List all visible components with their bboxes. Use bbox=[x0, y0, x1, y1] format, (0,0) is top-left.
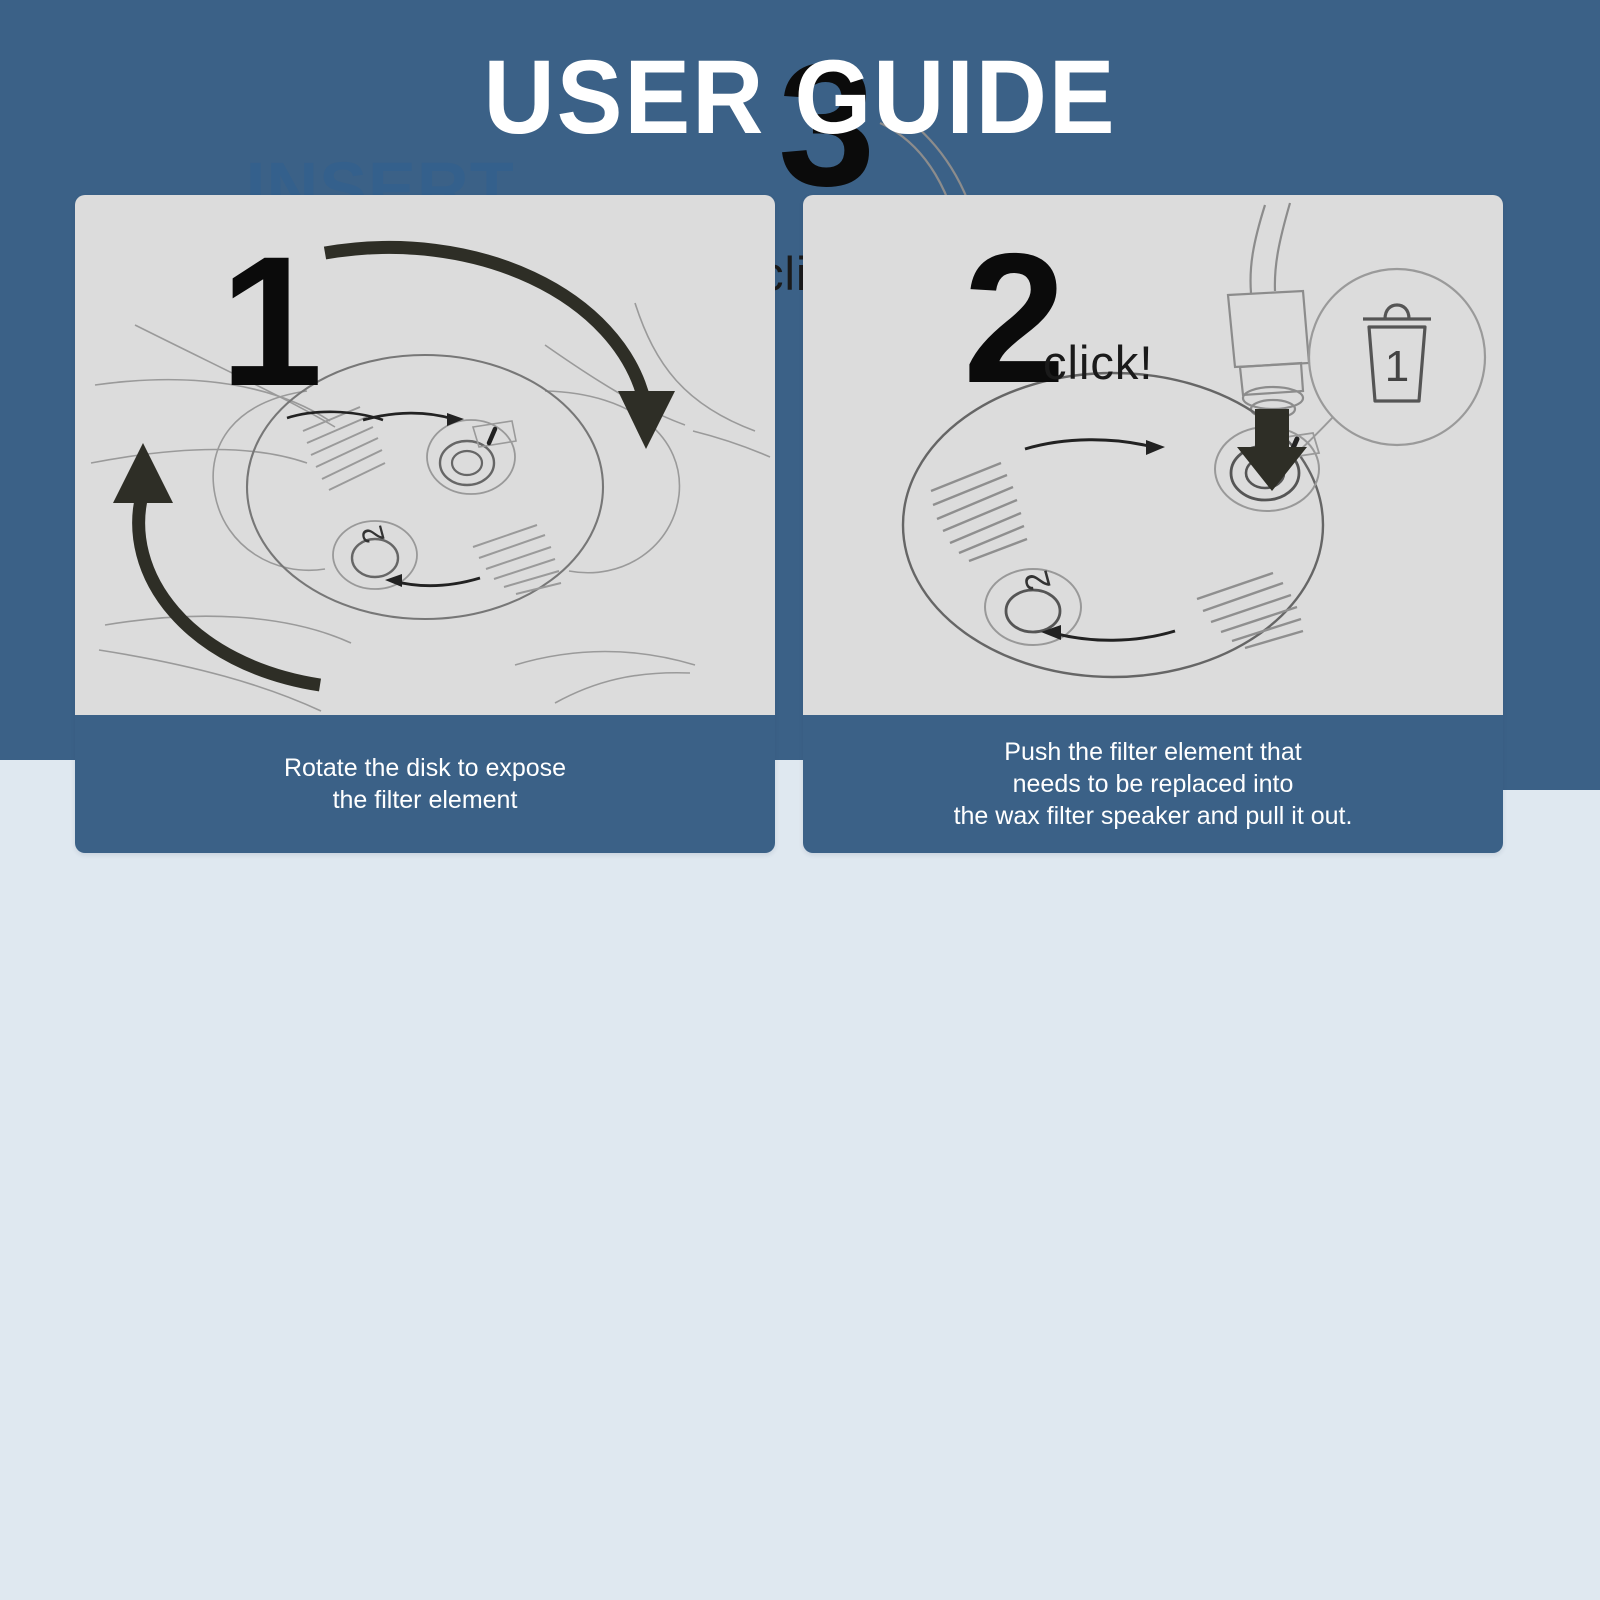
step-2-click-label: click! bbox=[1043, 335, 1153, 390]
page-title: USER GUIDE bbox=[48, 42, 1552, 153]
svg-text:2: 2 bbox=[1017, 567, 1059, 595]
svg-text:2: 2 bbox=[356, 522, 392, 547]
step-card-1: 1 bbox=[75, 195, 775, 853]
step-1-caption-line-2: the filter element bbox=[284, 784, 566, 816]
step-2-caption-line-3: the wax filter speaker and pull it out. bbox=[954, 800, 1353, 832]
step-2-caption-line-1: Push the filter element that bbox=[954, 736, 1353, 768]
step-2-caption-line-2: needs to be replaced into bbox=[954, 768, 1353, 800]
step-1-caption-line-1: Rotate the disk to expose bbox=[284, 752, 566, 784]
svg-text:1: 1 bbox=[1385, 342, 1409, 391]
step-1-diagram: 2 bbox=[75, 195, 775, 715]
step-1-caption: Rotate the disk to expose the filter ele… bbox=[75, 715, 775, 853]
step-2-diagram: 1 bbox=[803, 195, 1503, 715]
step-card-2: 2 click! 1 bbox=[803, 195, 1503, 853]
step-2-illustration: 2 click! 1 bbox=[803, 195, 1503, 715]
step-2-caption: Push the filter element that needs to be… bbox=[803, 715, 1503, 853]
step-1-illustration: 1 bbox=[75, 195, 775, 715]
step-1-number: 1 bbox=[220, 230, 323, 415]
